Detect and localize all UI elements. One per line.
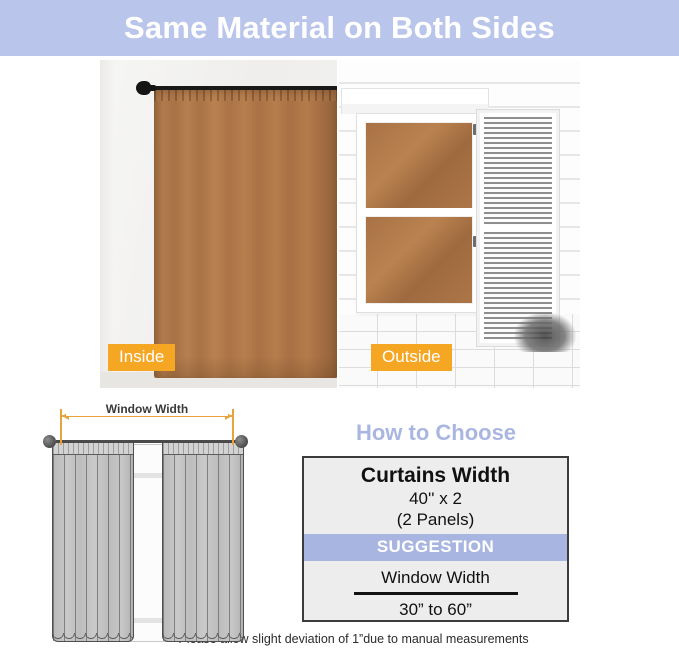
- diagram-finial-right-icon: [235, 435, 248, 448]
- badge-outside: Outside: [371, 344, 452, 371]
- panel-hem-right: [163, 633, 243, 642]
- shutter-mid-rail: [480, 225, 556, 232]
- window-rail: [361, 208, 477, 216]
- diagram-panel-left: [52, 442, 134, 642]
- panel-folds-right: [163, 453, 243, 641]
- window-width-diagram: Window Width: [20, 402, 272, 652]
- badge-inside: Inside: [108, 344, 175, 371]
- table-heading: Curtains Width: [304, 458, 567, 488]
- measure-tick-right: [232, 409, 234, 445]
- curtain-rod: [142, 86, 337, 90]
- photo-strip: Inside Outside: [100, 60, 580, 388]
- table-panels: (2 Panels): [304, 509, 567, 534]
- diagram-rod: [56, 440, 238, 443]
- brown-curtain-panel: [154, 89, 337, 378]
- photo-outside: Outside: [339, 60, 580, 388]
- wall-seam: [100, 60, 114, 388]
- foliage: [514, 312, 576, 352]
- header-banner: Same Material on Both Sides: [0, 0, 679, 56]
- panel-folds-left: [53, 453, 133, 641]
- louvered-shutter: [477, 110, 559, 346]
- window-pane-top: [365, 122, 473, 210]
- table-size: 40'' x 2: [304, 488, 567, 509]
- window-frame: [357, 114, 481, 312]
- window-pane-bottom: [365, 216, 473, 304]
- panel-header-left: [53, 443, 133, 455]
- page-title: Same Material on Both Sides: [124, 10, 555, 46]
- table-window-width-label: Window Width: [304, 561, 567, 589]
- how-to-choose-panel: Curtains Width 40'' x 2 (2 Panels) SUGGE…: [302, 456, 569, 622]
- window-header-trim-lower: [341, 104, 488, 114]
- panel-header-right: [163, 443, 243, 455]
- panel-hem-left: [53, 633, 133, 642]
- table-window-width-range: 30” to 60”: [304, 595, 567, 622]
- rod-finial-icon: [136, 81, 151, 95]
- diagram-finial-left-icon: [43, 435, 56, 448]
- suggestion-band: SUGGESTION: [304, 534, 567, 561]
- measure-label: Window Width: [66, 402, 228, 416]
- photo-inside: Inside: [100, 60, 337, 388]
- how-to-choose-title: How to Choose: [302, 420, 570, 446]
- diagram-panel-right: [162, 442, 244, 642]
